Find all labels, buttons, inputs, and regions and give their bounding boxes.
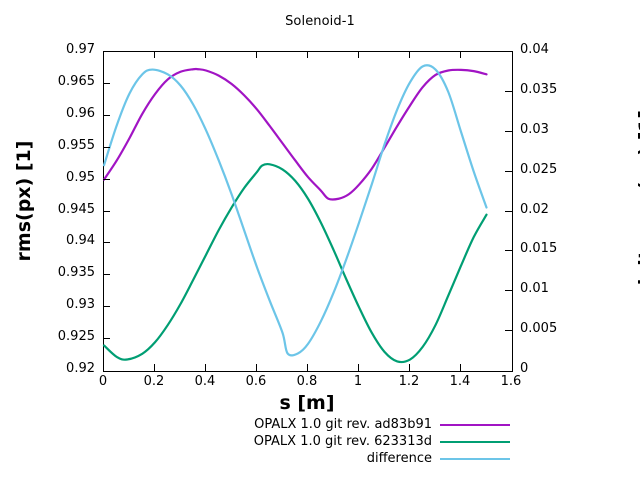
y-axis-right-tick-mark (505, 250, 512, 251)
legend-item[interactable]: OPALX 1.0 git rev. ad83b91 (180, 416, 510, 433)
x-axis-tick-mark (307, 364, 308, 371)
x-axis-tick-mark (358, 364, 359, 371)
x-axis-tick-mark-top (409, 51, 410, 58)
legend-color-swatch (440, 458, 510, 460)
x-axis-tick-mark (154, 364, 155, 371)
legend-item[interactable]: difference (180, 450, 510, 467)
legend-item-label: difference (367, 450, 432, 467)
x-axis-tick-mark (256, 364, 257, 371)
legend-item-label: OPALX 1.0 git rev. 623313d (254, 433, 432, 450)
y-axis-left-tick-mark (103, 242, 110, 243)
chart-legend: OPALX 1.0 git rev. ad83b91OPALX 1.0 git … (180, 416, 510, 467)
y-axis-left-tick-mark (103, 211, 110, 212)
x-axis-tick-mark (460, 364, 461, 371)
legend-item-label: OPALX 1.0 git rev. ad83b91 (254, 416, 432, 433)
y-axis-right-tick-mark (505, 290, 512, 291)
y-axis-left-tick-mark (103, 147, 110, 148)
y-axis-left-tick-mark (103, 179, 110, 180)
series-line-2 (104, 164, 487, 362)
legend-color-swatch (440, 424, 510, 426)
plot-curves (104, 52, 512, 371)
y-axis-right-tick-mark (505, 171, 512, 172)
y-axis-left-tick-mark (103, 83, 110, 84)
x-axis-tick-mark-top (460, 51, 461, 58)
x-axis-tick-mark (205, 364, 206, 371)
x-axis-tick-label: 1.6 (481, 374, 541, 389)
x-axis-tick-mark-top (307, 51, 308, 58)
y-axis-right-tick-mark (505, 330, 512, 331)
x-axis-tick-mark-top (205, 51, 206, 58)
y-axis-right-tick-mark (505, 91, 512, 92)
y-axis-right-tick-mark (505, 211, 512, 212)
x-axis-tick-mark (409, 364, 410, 371)
y-axis-left-tick-mark (103, 306, 110, 307)
x-axis-tick-mark-top (256, 51, 257, 58)
x-axis-tick-mark-top (154, 51, 155, 58)
y-axis-left-tick-mark (103, 274, 110, 275)
y-axis-right-tick-mark (505, 131, 512, 132)
y-axis-left-tick-mark (103, 338, 110, 339)
legend-color-swatch (440, 441, 510, 443)
x-axis-tick-mark-top (358, 51, 359, 58)
legend-item[interactable]: OPALX 1.0 git rev. 623313d (180, 433, 510, 450)
chart-figure: Solenoid-1 rms(px) [1] delta rms(px) [1]… (0, 0, 640, 480)
y-axis-left-tick-mark (103, 115, 110, 116)
series-line-3 (104, 65, 487, 355)
